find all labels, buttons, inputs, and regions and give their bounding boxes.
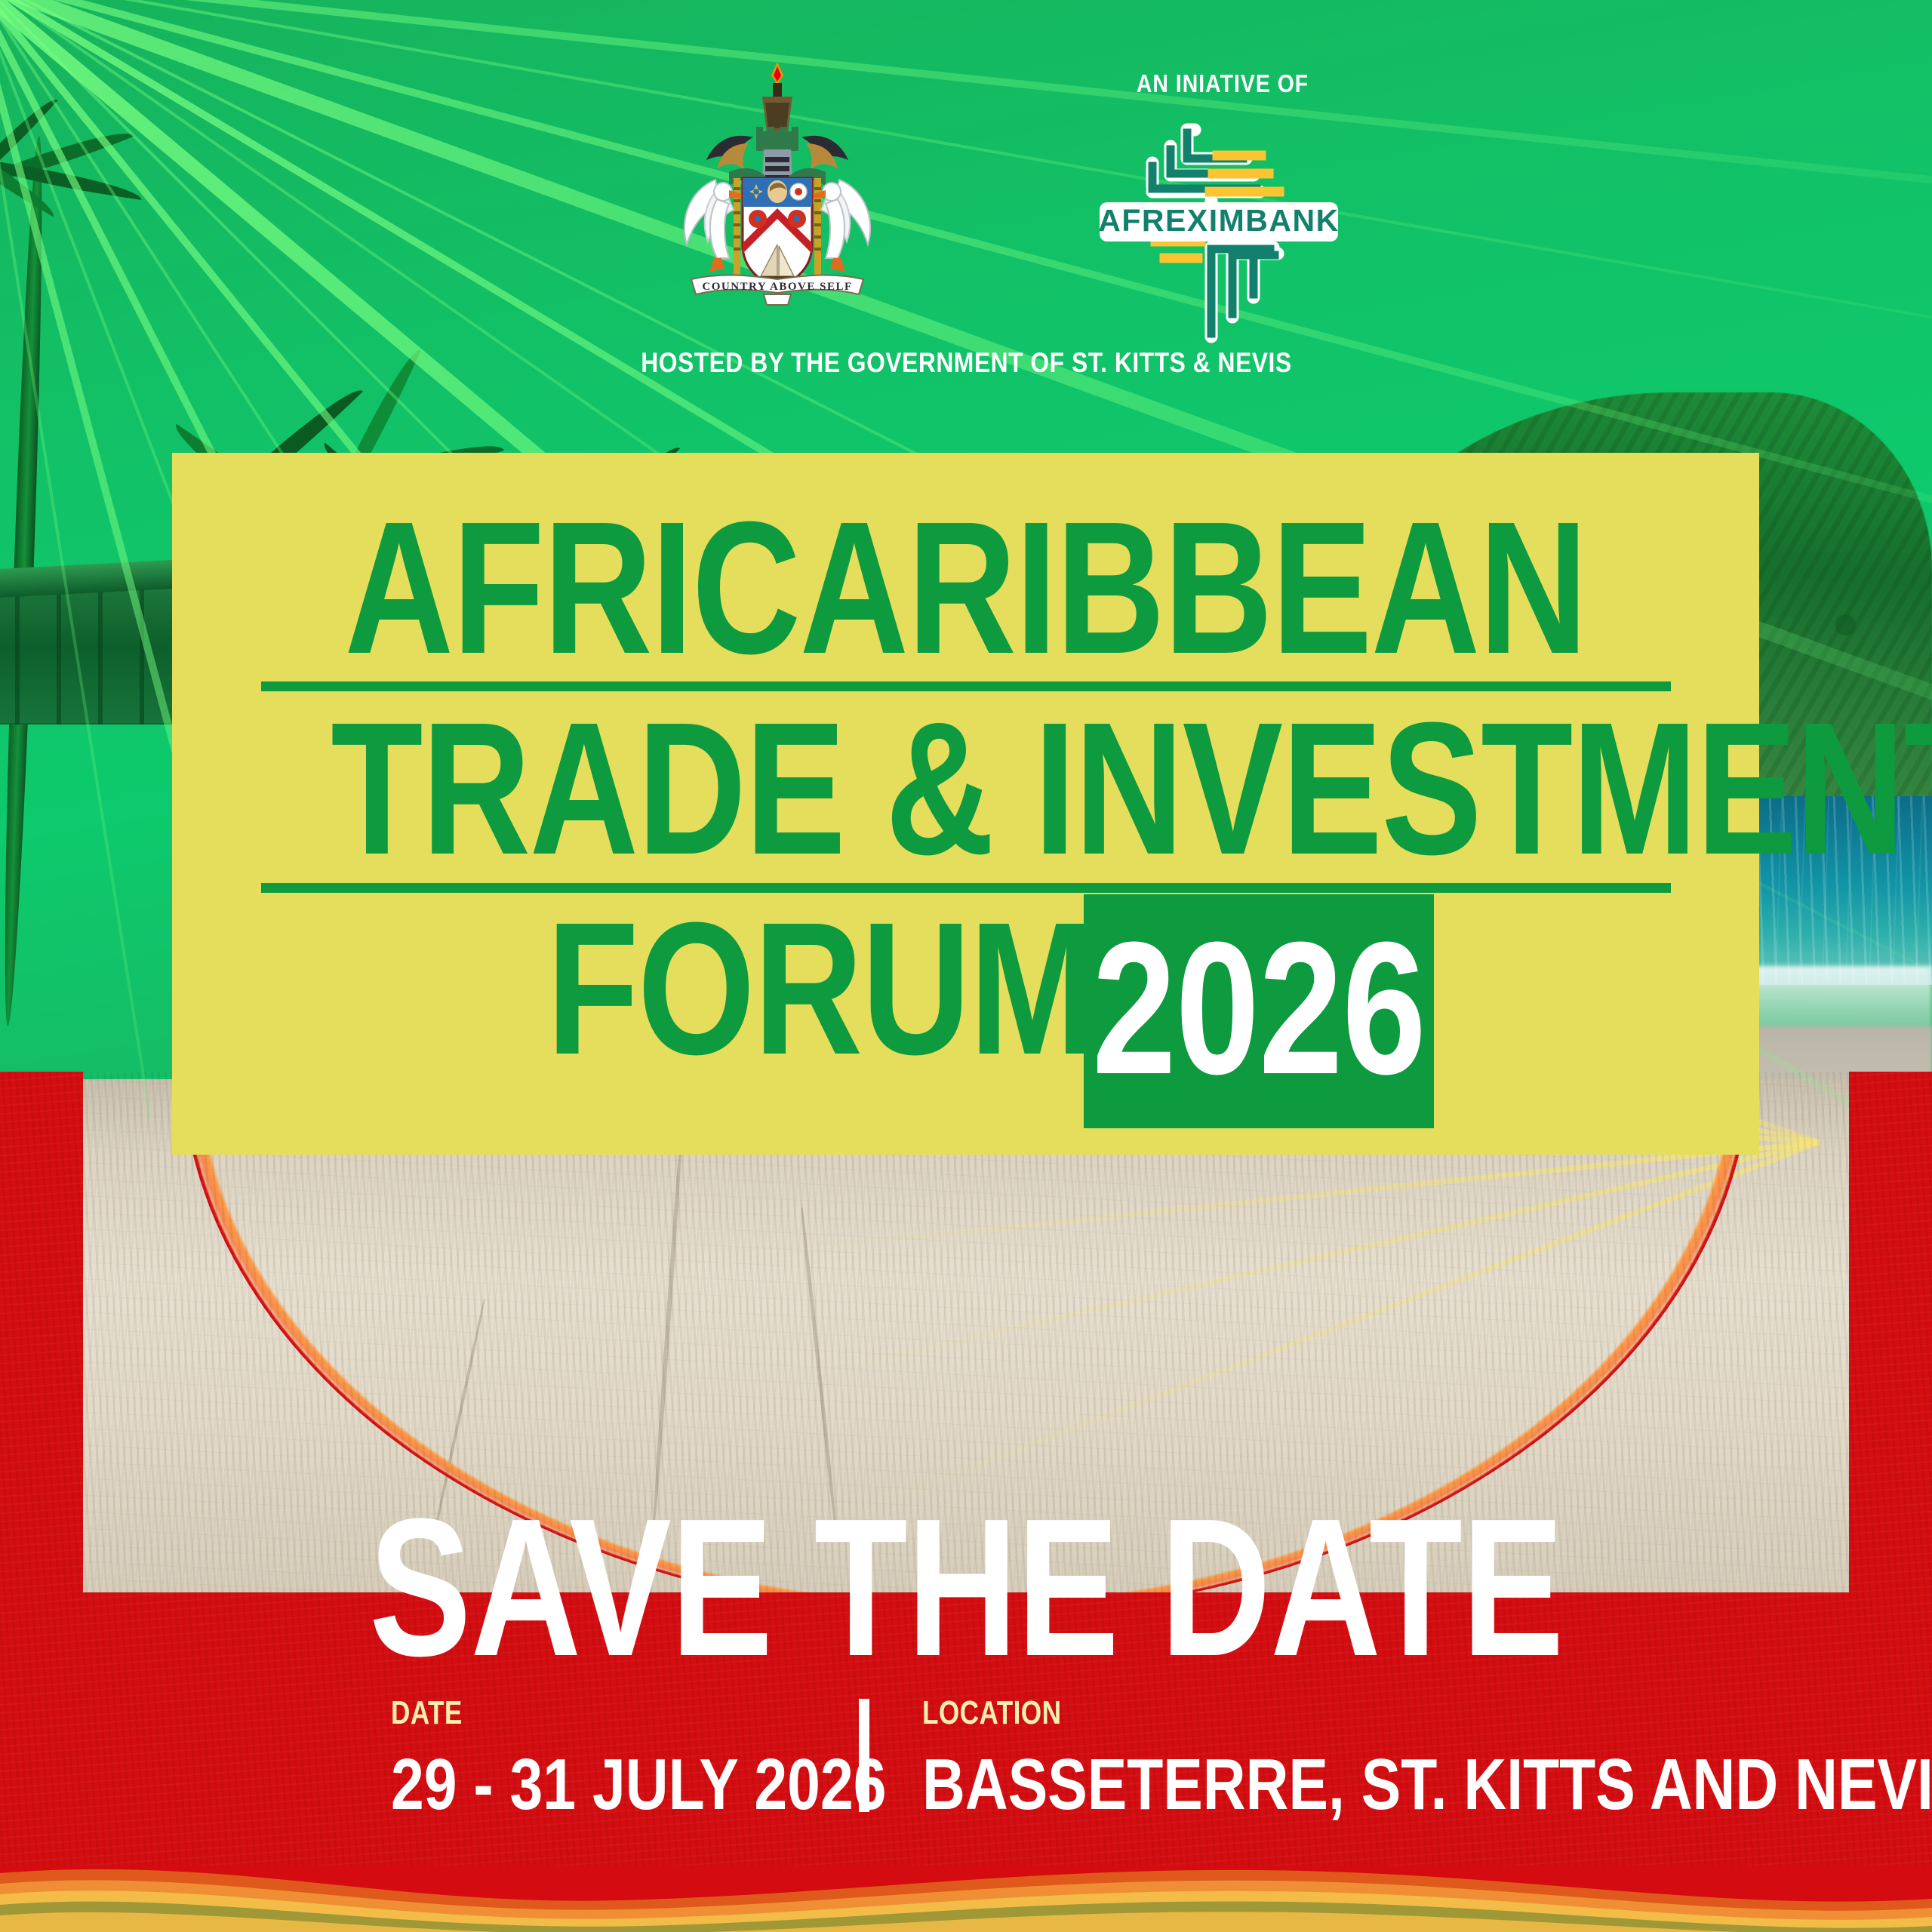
save-the-date-poster: COUNTRY ABOVE SELF AN INIATIVE OF [0, 0, 1932, 1932]
event-details: DATE 29 - 31 JULY 2026 LOCATION BASSETER… [0, 1694, 1932, 1821]
save-the-date-headline: SAVE THE DATE [369, 1498, 1563, 1678]
year-badge: 2026 [1084, 894, 1434, 1128]
svg-text:COUNTRY ABOVE SELF: COUNTRY ABOVE SELF [702, 281, 852, 293]
title-line-1: AFRICARIBBEAN [331, 494, 1600, 682]
afreximbank-logo-icon: AFREXIMBANK [1098, 113, 1340, 347]
date-column: DATE 29 - 31 JULY 2026 [119, 1694, 859, 1821]
hosted-by-text: HOSTED BY THE GOVERNMENT OF ST. KITTS & … [641, 347, 1291, 379]
location-value: BASSETERRE, ST. KITTS AND NEVIS [922, 1749, 1932, 1821]
title-forum-word: FORUM [546, 894, 1094, 1083]
title-panel: AFRICARIBBEAN TRADE & INVESTMENT FORUM 2… [172, 453, 1759, 1155]
title-line-2: TRADE & INVESTMENT [331, 694, 1600, 883]
date-label: DATE [391, 1694, 463, 1732]
hosted-by-wrap: HOSTED BY THE GOVERNMENT OF ST. KITTS & … [0, 347, 1932, 379]
afreximbank-wordmark: AFREXIMBANK [1098, 203, 1339, 238]
location-column: LOCATION BASSETERRE, ST. KITTS AND NEVIS [869, 1694, 1813, 1821]
coat-of-arms-icon: COUNTRY ABOVE SELF [664, 59, 891, 308]
title-line-3-row: FORUM 2026 [172, 894, 1759, 1128]
initiative-label: AN INIATIVE OF [1093, 69, 1352, 98]
save-the-date-wrap: SAVE THE DATE [0, 1498, 1932, 1678]
header-logos: COUNTRY ABOVE SELF AN INIATIVE OF [0, 0, 1932, 392]
bottom-wave-ribbon [0, 1866, 1932, 1932]
location-label: LOCATION [922, 1694, 1061, 1732]
date-value: 29 - 31 JULY 2026 [391, 1749, 887, 1821]
